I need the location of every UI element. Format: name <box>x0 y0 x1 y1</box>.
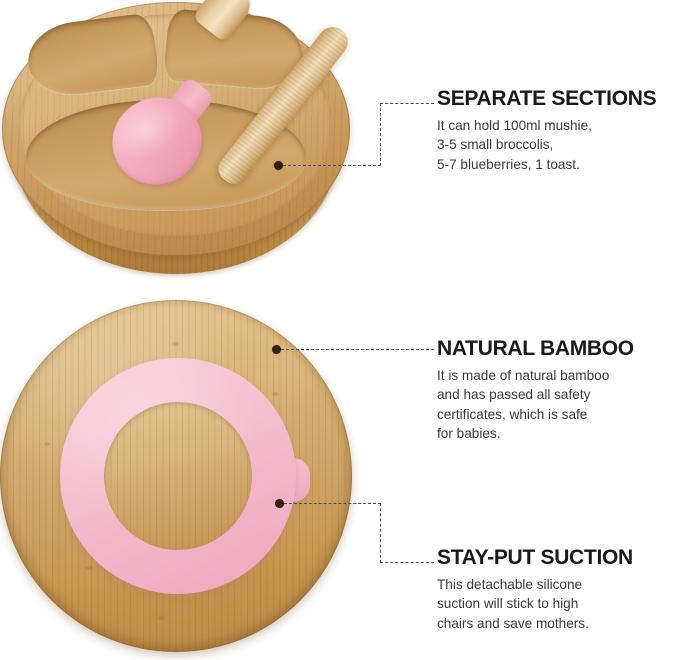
callout-title-stay-put-suction: STAY-PUT SUCTION <box>437 547 633 568</box>
leader-line-h-separate-sections <box>283 165 381 166</box>
baby-spoon <box>98 0 328 200</box>
callout-body-line: This detachable silicone <box>437 575 633 594</box>
callout-separate-sections: SEPARATE SECTIONS It can hold 100ml mush… <box>437 88 656 174</box>
callout-body-stay-put-suction: This detachable silicone suction will st… <box>437 575 633 633</box>
leader-line-h-stay-put-suction <box>284 503 381 504</box>
callout-body-line: for babies. <box>437 424 634 443</box>
callout-body-line: and has passed all safety <box>437 385 634 404</box>
bamboo-speck <box>158 616 165 620</box>
infographic-canvas: SEPARATE SECTIONS It can hold 100ml mush… <box>0 0 679 660</box>
callout-body-line: chairs and save mothers. <box>437 614 633 633</box>
callout-title-separate-sections: SEPARATE SECTIONS <box>437 88 656 109</box>
product-image-divided-plate <box>2 2 350 274</box>
callout-anchor-dot-stay-put-suction <box>275 499 284 508</box>
callout-body-line: It is made of natural bamboo <box>437 366 634 385</box>
bamboo-speck <box>172 342 179 346</box>
leader-line-h2-stay-put-suction <box>380 562 434 563</box>
callout-body-line: It can hold 100ml mushie, <box>437 116 656 135</box>
callout-title-natural-bamboo: NATURAL BAMBOO <box>437 338 634 359</box>
leader-line-v-stay-put-suction <box>380 503 381 563</box>
callout-anchor-dot-separate-sections <box>274 161 283 170</box>
bamboo-speck <box>272 392 279 396</box>
callout-body-line: 5-7 blueberries, 1 toast. <box>437 155 656 174</box>
callout-stay-put-suction: STAY-PUT SUCTION This detachable silicon… <box>437 547 633 633</box>
callout-body-natural-bamboo: It is made of natural bamboo and has pas… <box>437 366 634 443</box>
callout-anchor-dot-natural-bamboo <box>272 345 281 354</box>
suction-ring-inner-opening <box>104 402 252 550</box>
callout-body-line: certificates, which is safe <box>437 405 634 424</box>
callout-natural-bamboo: NATURAL BAMBOO It is made of natural bam… <box>437 338 634 443</box>
leader-line-h-natural-bamboo <box>281 349 434 350</box>
bamboo-speck <box>44 442 50 446</box>
bamboo-speck <box>86 566 93 570</box>
callout-body-line: 3-5 small broccolis, <box>437 135 656 154</box>
leader-line-v-separate-sections <box>380 103 381 166</box>
callout-body-separate-sections: It can hold 100ml mushie, 3-5 small broc… <box>437 116 656 174</box>
leader-line-h2-separate-sections <box>380 103 434 104</box>
callout-body-line: suction will stick to high <box>437 594 633 613</box>
product-image-plate-underside <box>0 300 360 658</box>
spoon-handle-tip <box>192 0 258 43</box>
